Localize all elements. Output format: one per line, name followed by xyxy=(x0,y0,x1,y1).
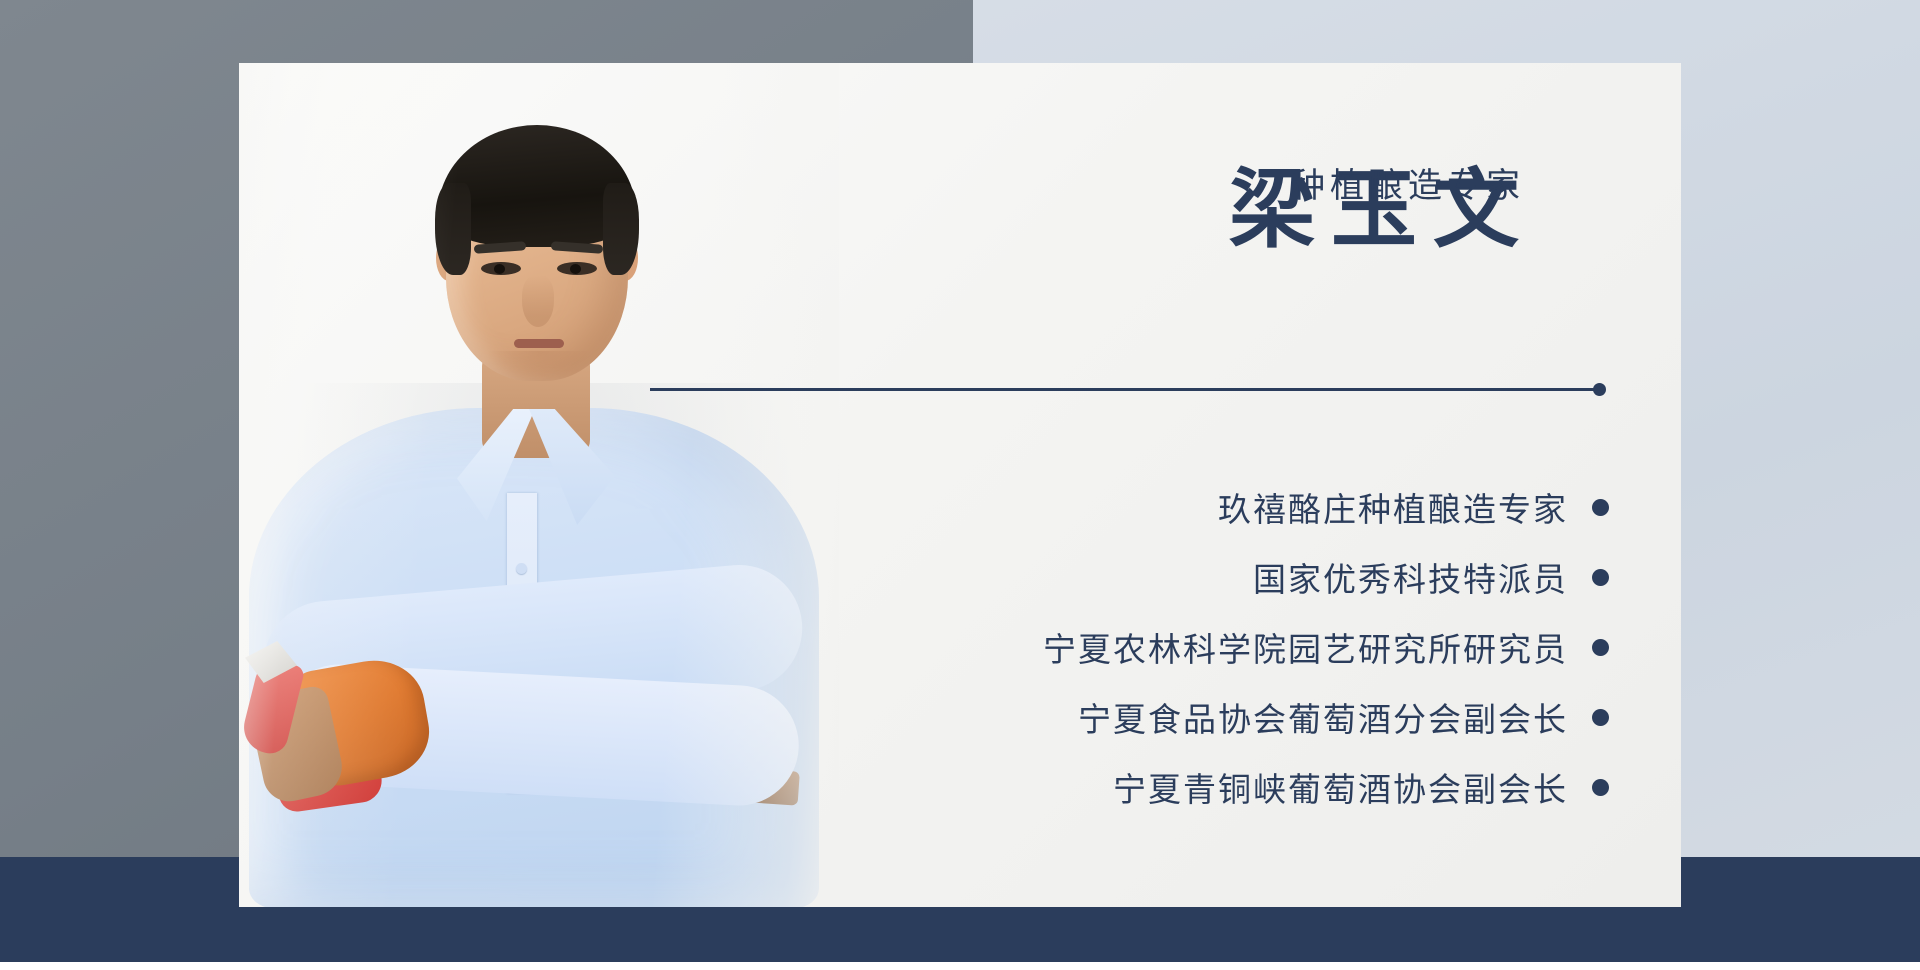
divider xyxy=(650,383,1610,395)
portrait-pupil-left xyxy=(494,264,505,274)
portrait-mouth xyxy=(514,339,564,348)
credential-label: 宁夏食品协会葡萄酒分会副会长 xyxy=(1078,693,1568,741)
bullet-dot-icon xyxy=(1592,569,1609,586)
portrait-hair-side-right xyxy=(603,183,639,275)
list-item: 玖禧酪庄种植酿造专家 xyxy=(1218,483,1609,531)
profile-card: 种植酿造专家 梁玉文 玖禧酪庄种植酿造专家 国家优秀科技特派员 宁夏农林科学院园… xyxy=(239,63,1681,907)
divider-end-dot-icon xyxy=(1593,383,1606,396)
portrait-chin xyxy=(489,351,589,377)
credential-label: 宁夏青铜峡葡萄酒协会副会长 xyxy=(1113,763,1568,811)
list-item: 宁夏农林科学院园艺研究所研究员 xyxy=(1043,623,1609,671)
bullet-dot-icon xyxy=(1592,779,1609,796)
profile-card-stage: 种植酿造专家 梁玉文 玖禧酪庄种植酿造专家 国家优秀科技特派员 宁夏农林科学院园… xyxy=(0,0,1920,970)
portrait-shirt-button xyxy=(516,563,527,574)
credentials-list: 玖禧酪庄种植酿造专家 国家优秀科技特派员 宁夏农林科学院园艺研究所研究员 宁夏食… xyxy=(539,483,1609,811)
portrait-nose xyxy=(522,275,554,327)
bottom-white-strip xyxy=(0,962,1920,970)
page-subtitle: 种植酿造专家 xyxy=(659,158,1603,207)
list-item: 宁夏青铜峡葡萄酒协会副会长 xyxy=(1113,763,1609,811)
credential-label: 玖禧酪庄种植酿造专家 xyxy=(1218,483,1568,531)
portrait-pupil-right xyxy=(570,264,581,274)
list-item: 宁夏食品协会葡萄酒分会副会长 xyxy=(1078,693,1609,741)
credential-label: 国家优秀科技特派员 xyxy=(1253,553,1568,601)
credential-label: 宁夏农林科学院园艺研究所研究员 xyxy=(1043,623,1568,671)
bullet-dot-icon xyxy=(1592,709,1609,726)
heading-block: 种植酿造专家 梁玉文 xyxy=(659,158,1603,257)
divider-line xyxy=(650,388,1599,391)
list-item: 国家优秀科技特派员 xyxy=(1253,553,1609,601)
bullet-dot-icon xyxy=(1592,639,1609,656)
portrait-hair-side-left xyxy=(435,183,471,275)
bullet-dot-icon xyxy=(1592,499,1609,516)
